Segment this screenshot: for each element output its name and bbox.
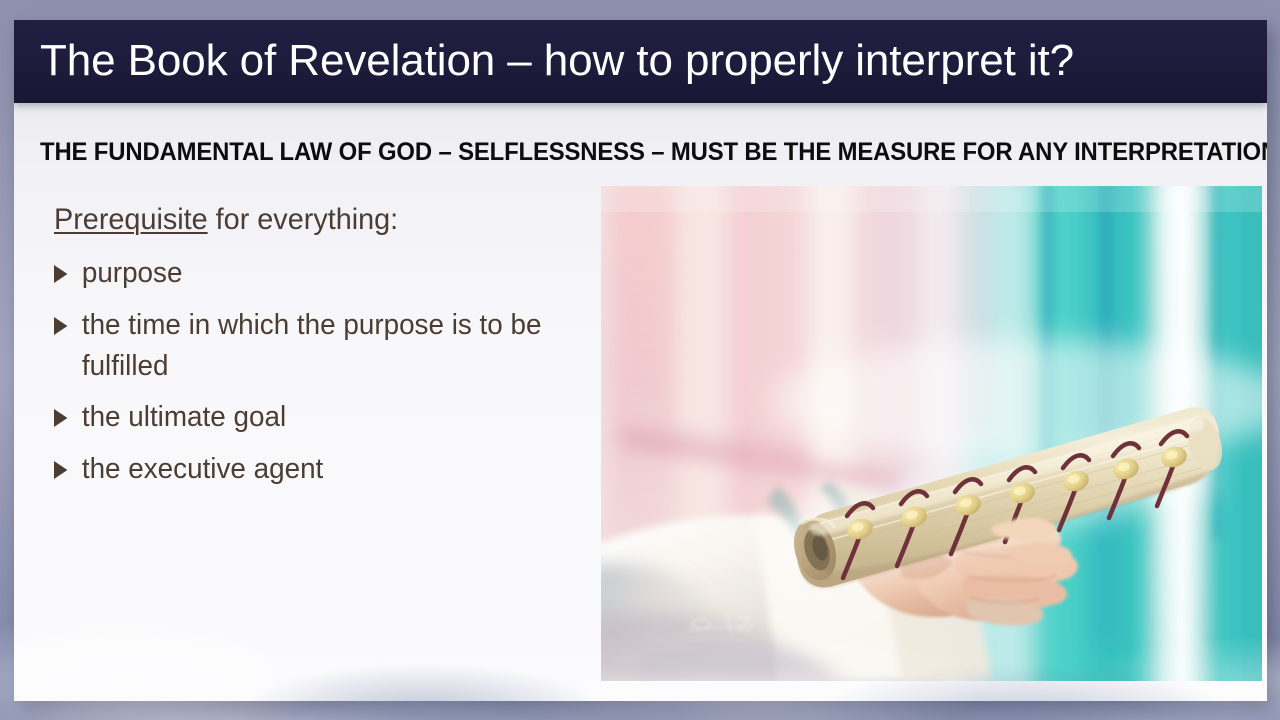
triangle-bullet-icon (54, 317, 67, 335)
presentation-slide: The Book of Revelation – how to properly… (14, 20, 1267, 701)
lead-emphasis: Prerequisite (54, 203, 208, 236)
slide-subtitle: THE FUNDAMENTAL LAW OF GOD – SELFLESSNES… (40, 138, 1196, 167)
list-item-label: purpose (82, 257, 183, 289)
list-item: purpose (54, 253, 577, 294)
bullet-list: purpose the time in which the purpose is… (54, 253, 599, 489)
triangle-bullet-icon (54, 265, 67, 283)
list-item: the executive agent (54, 449, 577, 490)
triangle-bullet-icon (54, 461, 67, 479)
sealed-scroll-artwork (601, 186, 1262, 681)
sealed-scroll-illustration (601, 186, 1262, 681)
body-text-column: Prerequisite for everything: purpose the… (54, 202, 599, 500)
slide-title-bar: The Book of Revelation – how to properly… (14, 20, 1267, 103)
desktop-backdrop: The Book of Revelation – how to properly… (0, 0, 1280, 720)
lead-line: Prerequisite for everything: (54, 202, 577, 237)
triangle-bullet-icon (54, 409, 67, 427)
lead-rest: for everything: (208, 203, 398, 236)
list-item: the ultimate goal (54, 397, 577, 438)
list-item-label: the ultimate goal (82, 401, 286, 433)
list-item-label: the time in which the purpose is to be f… (82, 309, 542, 382)
list-item: the time in which the purpose is to be f… (54, 305, 577, 386)
slide-title: The Book of Revelation – how to properly… (40, 36, 1074, 86)
list-item-label: the executive agent (82, 453, 323, 485)
